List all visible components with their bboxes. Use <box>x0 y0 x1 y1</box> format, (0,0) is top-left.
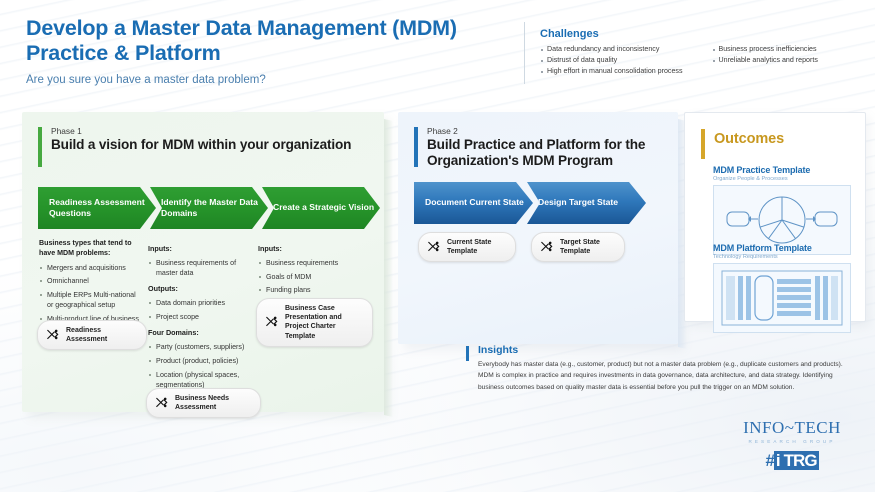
wheel-diagram-icon <box>717 189 847 251</box>
phase1-step-1[interactable]: Readiness Assessment Questions <box>38 187 156 229</box>
outcomes-title: Outcomes <box>714 131 784 147</box>
challenge-item: Data redundancy and inconsistency <box>540 44 694 55</box>
phase2-panel: Phase 2 Build Practice and Platform for … <box>398 112 678 344</box>
outcomes-panel: Outcomes MDM Practice Template Organize … <box>684 112 866 322</box>
outcome-card-practice-title: MDM Practice Template <box>713 165 853 175</box>
header-divider <box>524 22 525 84</box>
phase1-step-2-label: Identify the Master Data Domains <box>161 197 268 220</box>
phase1-col2-template-label: Business Needs Assessment <box>175 394 248 412</box>
page-title: Develop a Master Data Management (MDM) P… <box>26 16 516 66</box>
phase2-step-arrows: Document Current State Design Target Sta… <box>414 182 646 224</box>
itrg-i: i <box>774 451 782 470</box>
phase1-col2-input: Business requirements of master data <box>148 258 252 279</box>
insights-block: Insights Everybody has master data (e.g.… <box>466 344 858 393</box>
challenges-block: Challenges Data redundancy and inconsist… <box>540 28 865 77</box>
phase1-col1-template-pill[interactable]: Readiness Assessment <box>37 320 147 350</box>
phase1-heading: Build a vision for MDM within your organ… <box>51 137 351 153</box>
company-logo: INFO~TECH RESEARCH GROUP #iTRG <box>726 418 858 471</box>
phase2-step-2-template-pill[interactable]: Target State Template <box>531 232 625 262</box>
phase1-col3-input: Business requirements <box>258 258 366 268</box>
phase1-panel: Phase 1 Build a vision for MDM within yo… <box>22 112 384 412</box>
phase1-col1-lead: Business types that tend to have MDM pro… <box>39 238 142 259</box>
outcome-card-practice-subtitle: Organize People & Processes <box>713 176 853 182</box>
phase2-step-2-template-label: Target State Template <box>560 238 612 256</box>
logo-wordmark: INFO~TECH <box>726 418 858 438</box>
phase2-step-1-template-pill[interactable]: Current State Template <box>418 232 516 262</box>
challenge-item: Business process inefficiencies <box>712 44 866 55</box>
phase1-col2-domain: Product (product, policies) <box>148 356 252 366</box>
phase1-col2-output: Data domain priorities <box>148 298 252 308</box>
challenges-title: Challenges <box>540 28 865 40</box>
phase1-col3-template-label: Business Case Presentation and Project C… <box>285 304 360 341</box>
phase1-col2-output: Project scope <box>148 312 252 322</box>
architecture-diagram-icon <box>717 267 847 329</box>
challenge-item: High effort in manual consolidation proc… <box>540 66 694 77</box>
itrg-logo: #iTRG <box>726 451 858 471</box>
outcome-card-platform-title: MDM Platform Template <box>713 243 853 253</box>
tools-icon <box>540 240 554 254</box>
slide-canvas: Develop a Master Data Management (MDM) P… <box>0 0 875 492</box>
phase1-step-3-label: Create a Strategic Vision <box>273 202 374 213</box>
phase1-label: Phase 1 <box>51 126 82 136</box>
phase2-accent-bar <box>414 127 418 167</box>
phase1-col1-bullet: Mergers and acquisitions <box>39 263 142 273</box>
phase1-col1-template-label: Readiness Assessment <box>66 326 134 344</box>
phase2-step-2-label: Design Target State <box>538 197 618 208</box>
phase1-col3-template-pill[interactable]: Business Case Presentation and Project C… <box>256 298 373 347</box>
phase1-col3-input: Funding plans <box>258 285 366 295</box>
insights-accent-bar <box>466 346 469 361</box>
phase1-step-3[interactable]: Create a Strategic Vision <box>262 187 380 229</box>
challenges-column-1: Data redundancy and inconsistency Distru… <box>540 44 694 77</box>
tools-icon <box>46 328 60 342</box>
phase1-col1-bullet: Omnichannel <box>39 276 142 286</box>
phase1-col3-input: Goals of MDM <box>258 272 366 282</box>
header: Develop a Master Data Management (MDM) P… <box>26 16 516 86</box>
phase2-step-1-template-label: Current State Template <box>447 238 503 256</box>
outcome-card-platform[interactable]: MDM Platform Template Technology Require… <box>713 243 853 333</box>
phase1-step-arrows: Readiness Assessment Questions Identify … <box>38 187 380 229</box>
phase2-step-1-label: Document Current State <box>425 197 524 208</box>
phase1-col2-inputs-label: Inputs: <box>148 244 252 255</box>
outcome-card-platform-thumbnail <box>713 263 851 333</box>
phase1-col2-domain: Party (customers, suppliers) <box>148 342 252 352</box>
insights-body: Everybody has master data (e.g., custome… <box>478 359 858 393</box>
phase1-col2-domains-label: Four Domains: <box>148 328 252 339</box>
challenges-column-2: Business process inefficiencies Unreliab… <box>712 44 866 77</box>
phase2-step-1[interactable]: Document Current State <box>414 182 533 224</box>
phase1-step-2[interactable]: Identify the Master Data Domains <box>150 187 268 229</box>
phase1-col1: Business types that tend to have MDM pro… <box>39 238 142 328</box>
tools-icon <box>155 396 169 410</box>
phase2-step-2[interactable]: Design Target State <box>527 182 646 224</box>
itrg-trg: TRG <box>782 451 819 470</box>
itrg-hash: # <box>765 451 773 470</box>
tools-icon <box>265 315 279 329</box>
outcome-card-practice[interactable]: MDM Practice Template Organize People & … <box>713 165 853 255</box>
challenge-item: Unreliable analytics and reports <box>712 55 866 66</box>
phase1-col2-template-pill[interactable]: Business Needs Assessment <box>146 388 261 418</box>
phase2-label: Phase 2 <box>427 126 458 136</box>
phase1-step-1-label: Readiness Assessment Questions <box>49 197 156 220</box>
challenge-item: Distrust of data quality <box>540 55 694 66</box>
logo-tagline: RESEARCH GROUP <box>726 439 858 444</box>
phase1-accent-bar <box>38 127 42 167</box>
phase1-col3-inputs-label: Inputs: <box>258 244 366 255</box>
phase2-heading: Build Practice and Platform for the Orga… <box>427 137 678 170</box>
outcomes-accent-bar <box>701 129 705 159</box>
phase1-col1-bullet: Multiple ERPs Multi-national or geograph… <box>39 290 142 311</box>
page-subtitle: Are you sure you have a master data prob… <box>26 74 516 86</box>
tools-icon <box>427 240 441 254</box>
phase1-col2-outputs-label: Outputs: <box>148 284 252 295</box>
insights-title: Insights <box>478 344 858 356</box>
outcome-card-platform-subtitle: Technology Requirements <box>713 254 853 260</box>
